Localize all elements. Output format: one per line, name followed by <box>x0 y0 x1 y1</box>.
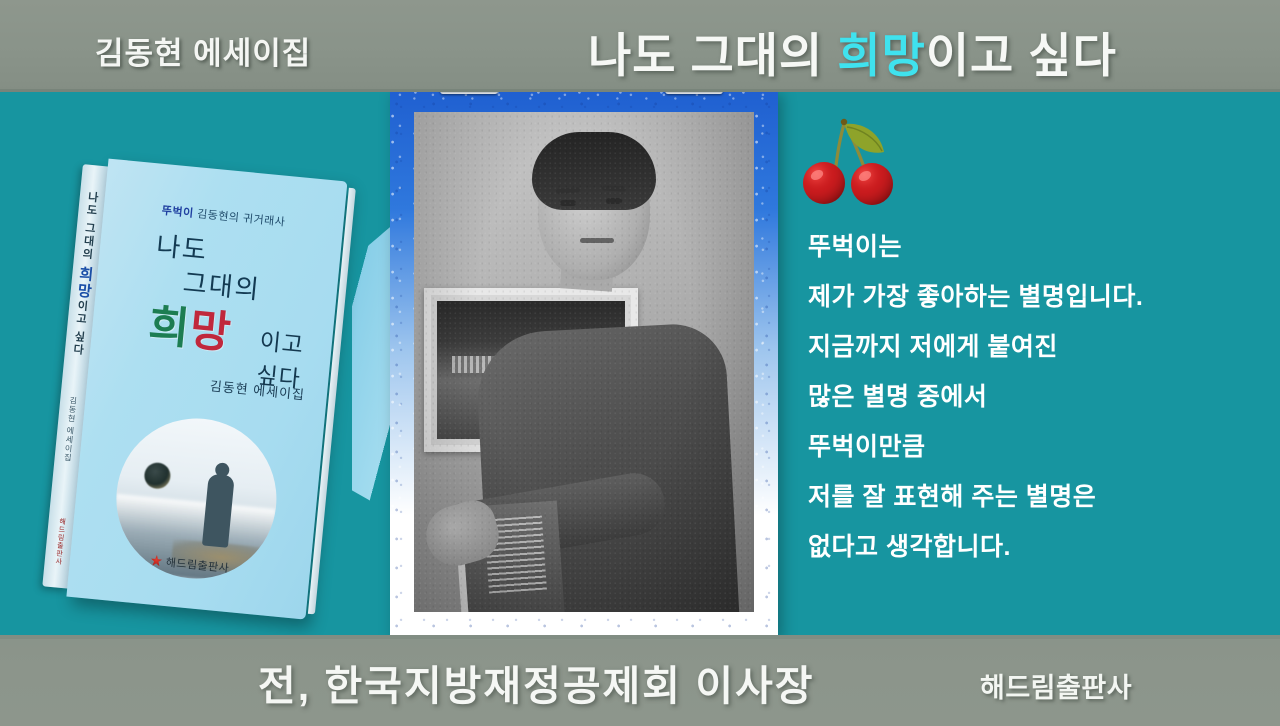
book-front-cover: 뚜벅이 김동현의 귀거래사 나도 그대의 희망 이고 싶다 김동현 에세이집 해… <box>66 159 347 620</box>
page-title-highlight: 희망 <box>837 29 925 82</box>
page-title: 나도 그대의 희망이고 싶다 <box>588 17 1117 86</box>
photo-panel <box>390 88 778 636</box>
quote-line-6: 저를 잘 표현해 주는 별명은 <box>808 472 1248 522</box>
book-cover-mockup: 나도 그대의 희망이고 싶다 김동현 에세이집 해드림출판사 뚜벅이 김동현의 … <box>42 156 351 620</box>
book-title-hope: 희망 <box>146 289 235 361</box>
book-tagline-rest: 김동현의 귀거래사 <box>193 208 286 229</box>
quote-line-4: 많은 별명 중에서 <box>808 372 1248 422</box>
author-essay-label: 김동현 에세이집 <box>95 28 311 73</box>
book-title-hope-char1: 희 <box>146 301 192 354</box>
book-title-hope-char2: 망 <box>188 305 234 358</box>
quote-line-5: 뚜벅이만큼 <box>808 422 1248 472</box>
publisher-mark-icon <box>150 554 162 566</box>
author-photograph <box>414 112 754 612</box>
book-spine-publisher: 해드림출판사 <box>52 517 67 566</box>
poster-canvas: 나도 그대의 희망이고 싶다 김동현 에세이집 해드림출판사 뚜벅이 김동현의 … <box>0 0 1280 726</box>
book-title-line1: 나도 <box>155 226 210 268</box>
subject-mouth <box>580 238 614 243</box>
subject-hair <box>532 132 656 210</box>
quote-line-1: 뚜벅이는 <box>808 222 1248 272</box>
page-title-pre: 나도 그대의 <box>588 29 837 82</box>
quote-line-2: 제가 가장 좋아하는 별명입니다. <box>808 272 1248 322</box>
quote-line-7: 없다고 생각합니다. <box>808 522 1248 572</box>
subject-eye-left <box>560 200 576 206</box>
book-spine-author: 김동현 에세이집 <box>62 396 79 463</box>
subject-eye-right <box>606 198 622 204</box>
page-title-post: 이고 싶다 <box>926 29 1117 82</box>
cover-sun-orb <box>143 461 171 489</box>
book-spine-title-pre: 나도 그대의 <box>80 191 99 267</box>
book-spine-title-highlight: 희망 <box>74 265 94 300</box>
footer-credential: 전, 한국지방재정공제회 이사장 <box>258 652 815 712</box>
book-tagline-bold: 뚜벅이 <box>161 205 194 220</box>
quote-line-3: 지금까지 저에게 붙여진 <box>808 322 1248 372</box>
footer-publisher: 해드림출판사 <box>980 666 1132 705</box>
book-spine-title-post: 이고 싶다 <box>71 299 88 357</box>
book-tagline: 뚜벅이 김동현의 귀거래사 <box>161 202 286 230</box>
cherries-icon <box>800 108 904 208</box>
quote-block: 뚜벅이는 제가 가장 좋아하는 별명입니다. 지금까지 저에게 붙여진 많은 별… <box>808 222 1248 572</box>
